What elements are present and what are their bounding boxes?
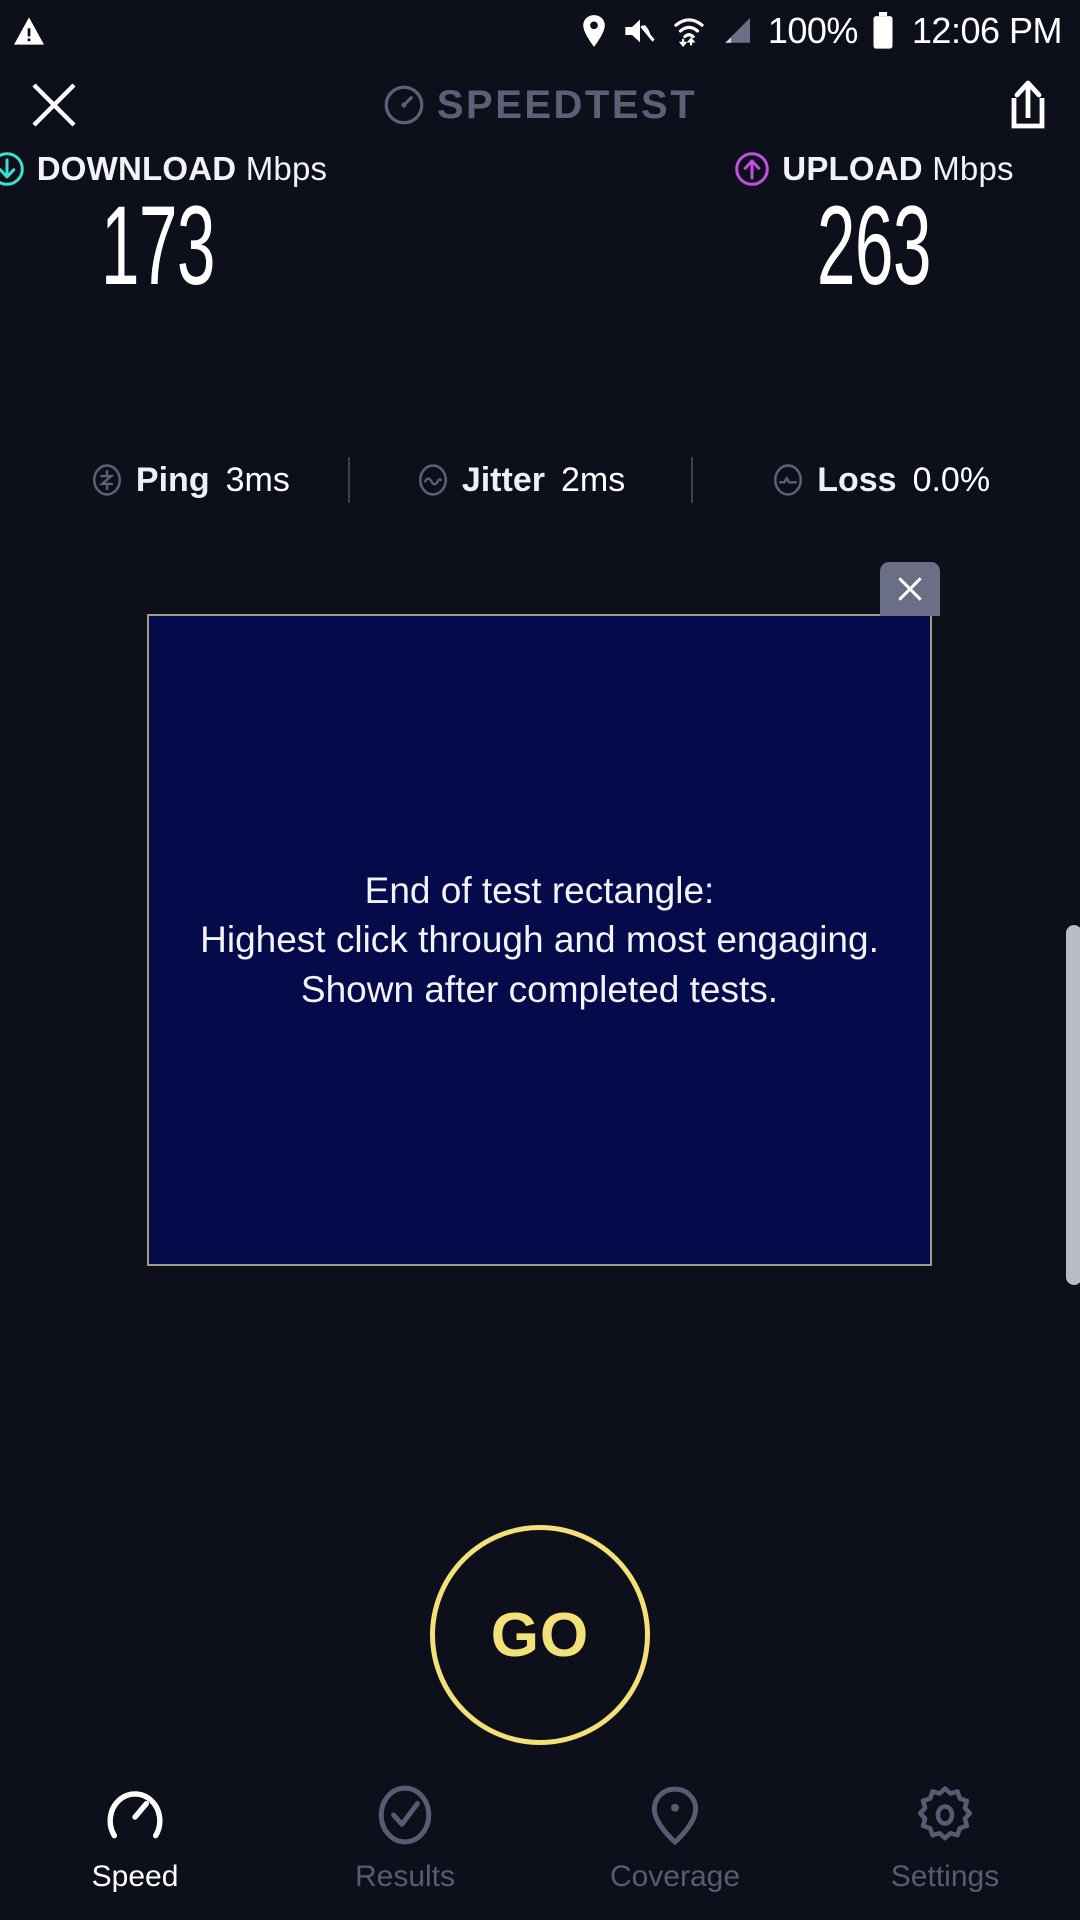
nav-item-speed[interactable]: Speed (0, 1784, 270, 1894)
nav-item-results[interactable]: Results (270, 1784, 540, 1894)
ad-line-2: Highest click through and most engaging. (200, 915, 879, 964)
close-button[interactable] (28, 79, 80, 131)
go-button[interactable]: GO (430, 1525, 650, 1745)
ping-value: 3ms (226, 461, 290, 500)
advertisement-banner[interactable]: End of test rectangle: Highest click thr… (147, 614, 932, 1266)
nav-label-settings: Settings (891, 1860, 999, 1894)
download-upload-row: DOWNLOAD Mbps 173 UPLOAD Mbps 263 (0, 150, 1080, 302)
close-icon (28, 79, 80, 131)
upload-result: UPLOAD Mbps 263 (604, 150, 1080, 302)
ad-close-button[interactable] (880, 562, 940, 616)
speedometer-icon (104, 1784, 166, 1846)
nav-item-settings[interactable]: Settings (810, 1784, 1080, 1894)
bottom-navigation: Speed Results Coverage (0, 1770, 1080, 1920)
speedtest-app-screen: 100% 12:06 PM (0, 0, 1080, 1920)
status-bar: 100% 12:06 PM (0, 0, 1080, 62)
battery-full-icon (872, 12, 894, 50)
status-bar-left (12, 16, 46, 46)
share-icon (1004, 78, 1052, 132)
nav-label-results: Results (355, 1860, 455, 1894)
upload-arrow-icon (734, 151, 770, 187)
results-panel: DOWNLOAD Mbps 173 UPLOAD Mbps 263 (0, 150, 1080, 302)
download-result: DOWNLOAD Mbps 173 (0, 150, 428, 302)
volume-mute-icon (622, 15, 658, 47)
download-arrow-icon (0, 151, 25, 187)
loss-icon (771, 463, 805, 497)
ping-icon (90, 463, 124, 497)
app-title-group: SPEEDTEST (0, 62, 1080, 148)
loss-label: Loss (817, 461, 896, 500)
app-header: SPEEDTEST (0, 62, 1080, 148)
ad-text: End of test rectangle: Highest click thr… (200, 866, 879, 1014)
download-value: 173 (101, 190, 215, 302)
loss-value: 0.0% (913, 461, 991, 500)
location-pin-icon (644, 1784, 706, 1846)
gear-icon (914, 1784, 976, 1846)
speedometer-icon (383, 84, 425, 126)
check-circle-icon (374, 1784, 436, 1846)
metrics-row: Ping 3ms Jitter 2ms (0, 450, 1080, 510)
metric-divider (691, 457, 693, 503)
nav-item-coverage[interactable]: Coverage (540, 1784, 810, 1894)
share-button[interactable] (1004, 78, 1052, 132)
nav-label-coverage: Coverage (610, 1860, 740, 1894)
metric-jitter: Jitter 2ms (416, 461, 625, 500)
scrollbar-thumb[interactable] (1066, 925, 1080, 1285)
jitter-label: Jitter (462, 461, 545, 500)
upload-value: 263 (817, 190, 931, 302)
metric-divider (348, 457, 350, 503)
ad-line-1: End of test rectangle: (200, 866, 879, 915)
page-title: SPEEDTEST (437, 83, 697, 128)
jitter-value: 2ms (561, 461, 625, 500)
go-button-label: GO (491, 1600, 589, 1671)
battery-percent-label: 100% (768, 10, 858, 52)
status-bar-right: 100% 12:06 PM (580, 10, 1062, 52)
ping-label: Ping (136, 461, 210, 500)
clock-label: 12:06 PM (912, 10, 1062, 52)
location-pin-icon (580, 14, 608, 48)
cell-signal-icon (720, 15, 754, 47)
ad-line-3: Shown after completed tests. (200, 965, 879, 1014)
close-icon (894, 573, 926, 605)
wifi-icon (672, 14, 706, 48)
metric-ping: Ping 3ms (90, 461, 290, 500)
nav-label-speed: Speed (92, 1860, 179, 1894)
metric-loss: Loss 0.0% (771, 461, 990, 500)
jitter-icon (416, 463, 450, 497)
warning-triangle-icon (12, 16, 46, 46)
